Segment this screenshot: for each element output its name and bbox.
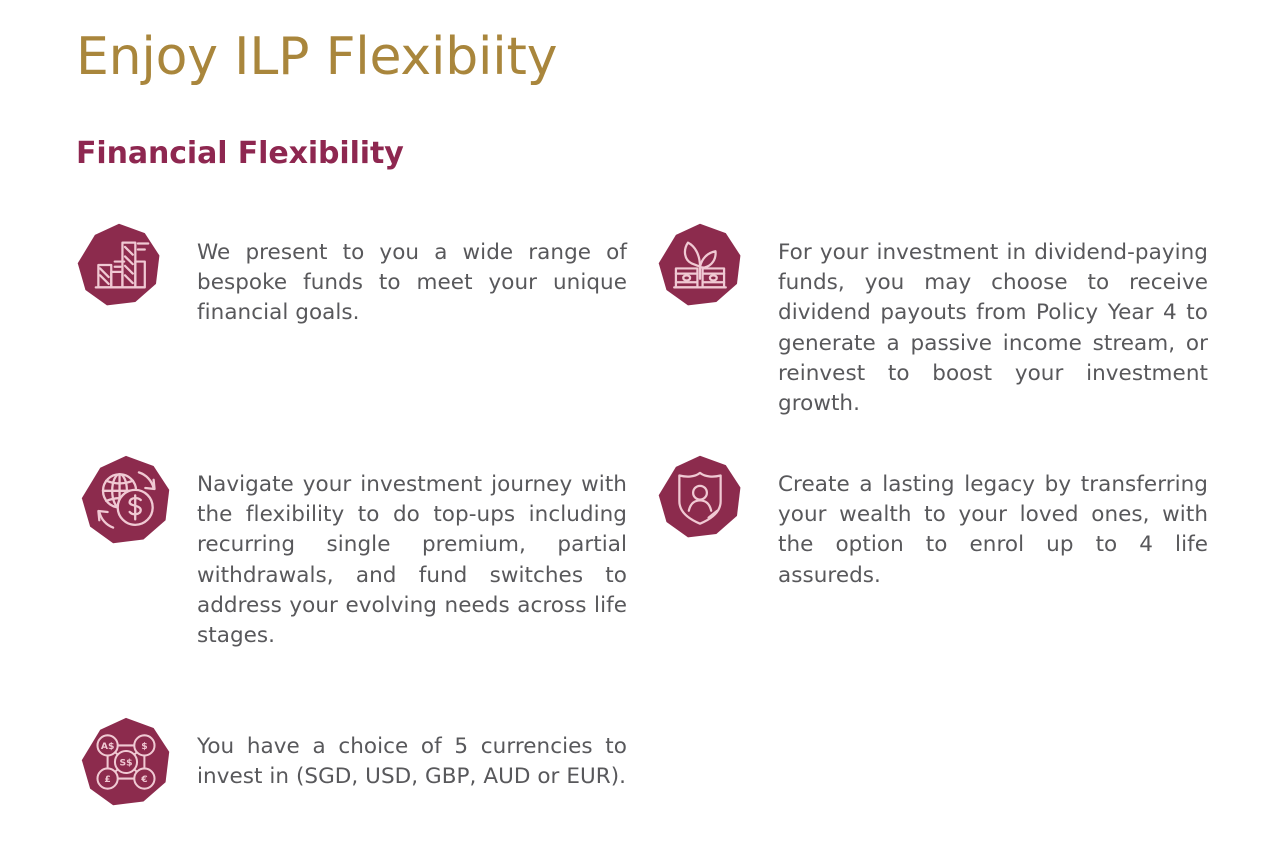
- slide-page: Enjoy ILP Flexibiity Financial Flexibili…: [0, 0, 1280, 853]
- plant-growing-from-money-icon: [657, 222, 743, 308]
- feature-text: Create a lasting legacy by transferring …: [778, 470, 1208, 591]
- feature-text: Navigate your investment journey with th…: [197, 470, 627, 651]
- shield-person-icon: [657, 454, 743, 540]
- feature-icon-wrap: [657, 454, 743, 540]
- feature-icon-wrap: [76, 222, 162, 308]
- bar-chart-buildings-icon: [76, 222, 162, 308]
- svg-text:S$: S$: [119, 758, 132, 769]
- feature-text: For your investment in dividend-paying f…: [778, 238, 1208, 419]
- svg-text:A$: A$: [101, 741, 115, 752]
- multi-currency-network-icon: A$ $ £ € S$: [80, 716, 172, 808]
- page-title: Enjoy ILP Flexibiity: [76, 28, 557, 86]
- feature-icon-wrap: [80, 454, 172, 546]
- feature-icon-wrap: A$ $ £ € S$: [80, 716, 172, 808]
- feature-icon-wrap: [657, 222, 743, 308]
- feature-text: You have a choice of 5 currencies to inv…: [197, 732, 627, 792]
- svg-text:$: $: [141, 741, 147, 752]
- svg-text:£: £: [104, 774, 110, 785]
- svg-text:€: €: [140, 774, 147, 785]
- section-heading: Financial Flexibility: [76, 136, 404, 171]
- globe-dollar-exchange-icon: [80, 454, 172, 546]
- feature-text: We present to you a wide range of bespok…: [197, 238, 627, 329]
